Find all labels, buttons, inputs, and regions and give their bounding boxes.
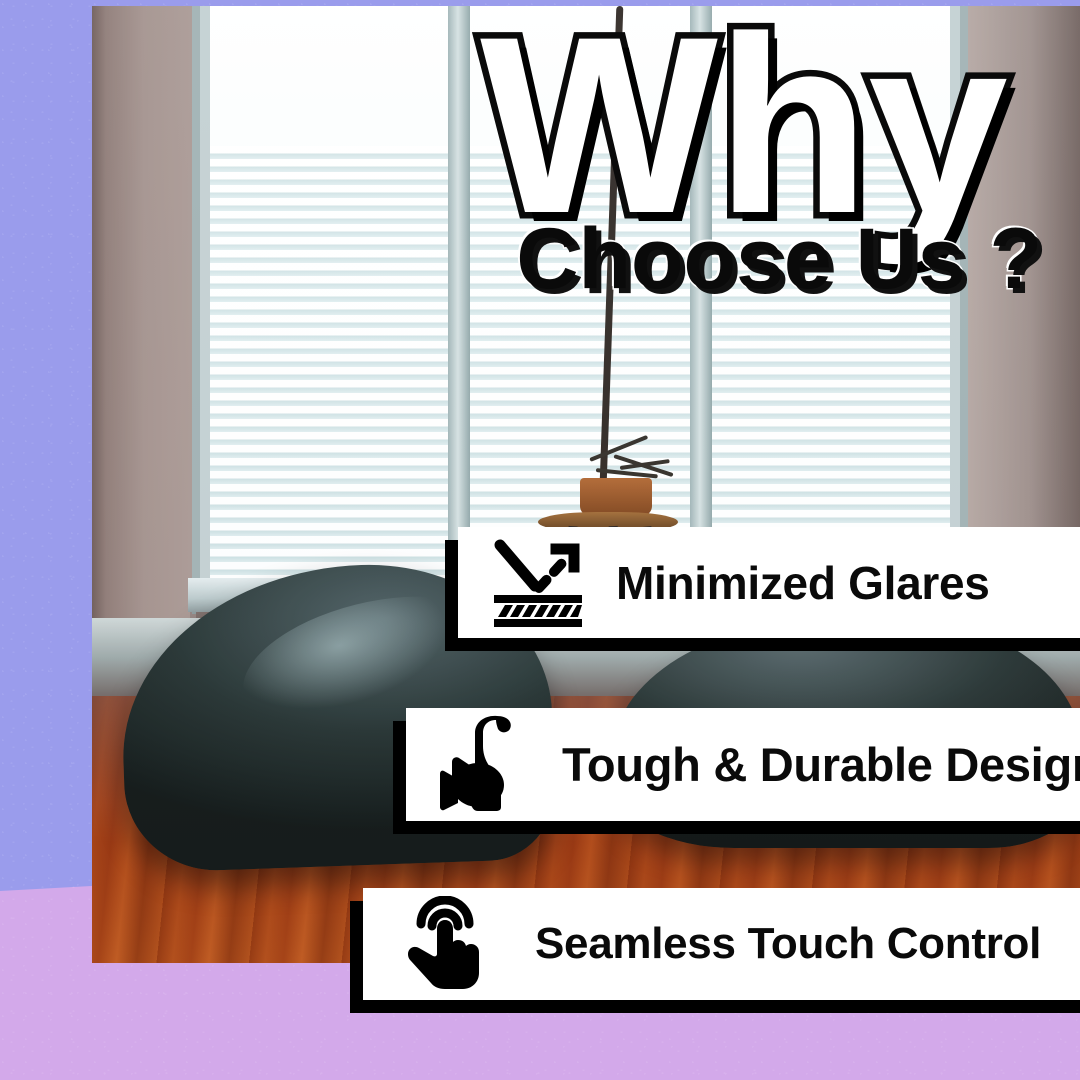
feature-card-minimized-glares[interactable]: Minimized Glares [458,527,1080,638]
photo-plant-pot [580,478,652,516]
flexed-bicep-icon [440,715,540,815]
feature-label: Seamless Touch Control [535,919,1041,969]
feature-label: Minimized Glares [616,556,990,610]
photo-window-mullion [690,6,712,596]
feature-card-tough-durable-design[interactable]: Tough & Durable Design [406,708,1080,821]
poster-canvas: Why Choose Us ? Mi [0,0,1080,1080]
feature-label: Tough & Durable Design [562,737,1080,792]
touch-tap-icon [401,896,497,992]
feature-card-seamless-touch-control[interactable]: Seamless Touch Control [363,888,1080,1000]
photo-window-mullion [448,6,470,596]
glare-reflection-icon [484,529,592,637]
